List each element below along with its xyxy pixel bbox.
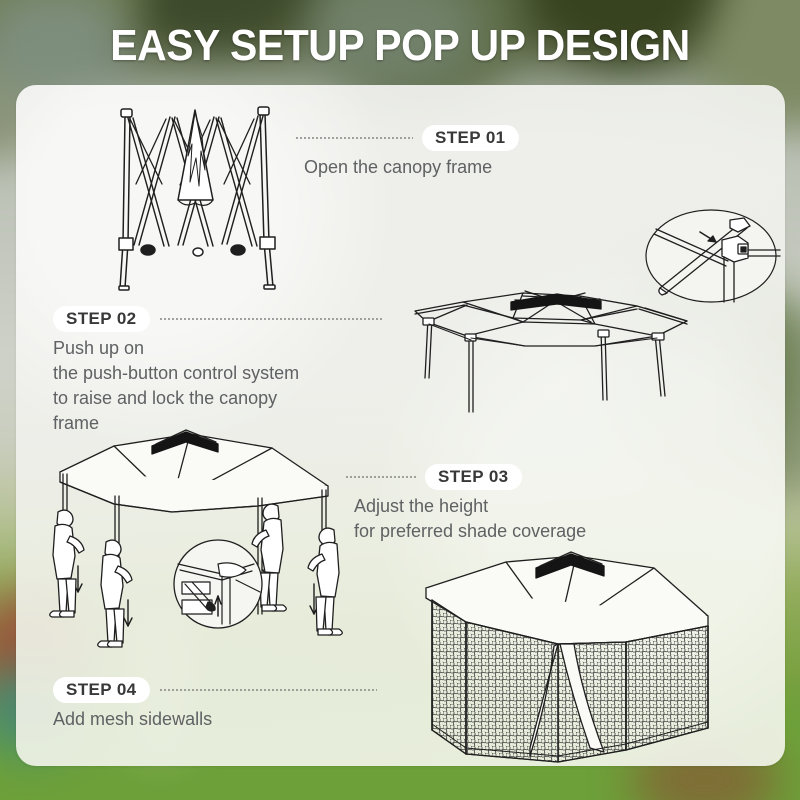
page-title: EASY SETUP POP UP DESIGN xyxy=(28,22,772,70)
step-02-badge: STEP 02 xyxy=(53,306,150,332)
step-02-head: STEP 02 xyxy=(53,305,384,332)
step-04-description: Add mesh sidewalls xyxy=(53,707,377,732)
step-03-description: Adjust the height for preferred shade co… xyxy=(354,494,586,544)
step-02-block: STEP 02 Push up on the push-button contr… xyxy=(53,305,384,436)
step-04-badge: STEP 04 xyxy=(53,677,150,703)
step-02-leader-line xyxy=(159,318,384,320)
step-01-head: STEP 01 xyxy=(295,124,519,151)
step-01-leader-line xyxy=(295,137,413,139)
step-01-description: Open the canopy frame xyxy=(304,155,519,180)
canopy-with-people-illustration xyxy=(22,424,370,656)
step-03-leader-line xyxy=(345,476,417,478)
push-button-joint-detail-illustration xyxy=(638,206,784,310)
infographic-root: EASY SETUP POP UP DESIGN xyxy=(0,0,800,800)
step-04-head: STEP 04 xyxy=(53,676,377,703)
step-01-block: STEP 01 Open the canopy frame xyxy=(295,124,519,180)
folded-frame-illustration xyxy=(92,96,302,296)
step-04-block: STEP 04 Add mesh sidewalls xyxy=(53,676,377,732)
mesh-gazebo-illustration xyxy=(408,550,768,768)
step-02-description: Push up on the push-button control syste… xyxy=(53,336,384,436)
step-01-badge: STEP 01 xyxy=(422,125,519,151)
step-03-badge: STEP 03 xyxy=(425,464,522,490)
step-03-block: STEP 03 Adjust the height for preferred … xyxy=(345,463,586,544)
step-04-leader-line xyxy=(159,689,377,691)
step-03-head: STEP 03 xyxy=(345,463,586,490)
